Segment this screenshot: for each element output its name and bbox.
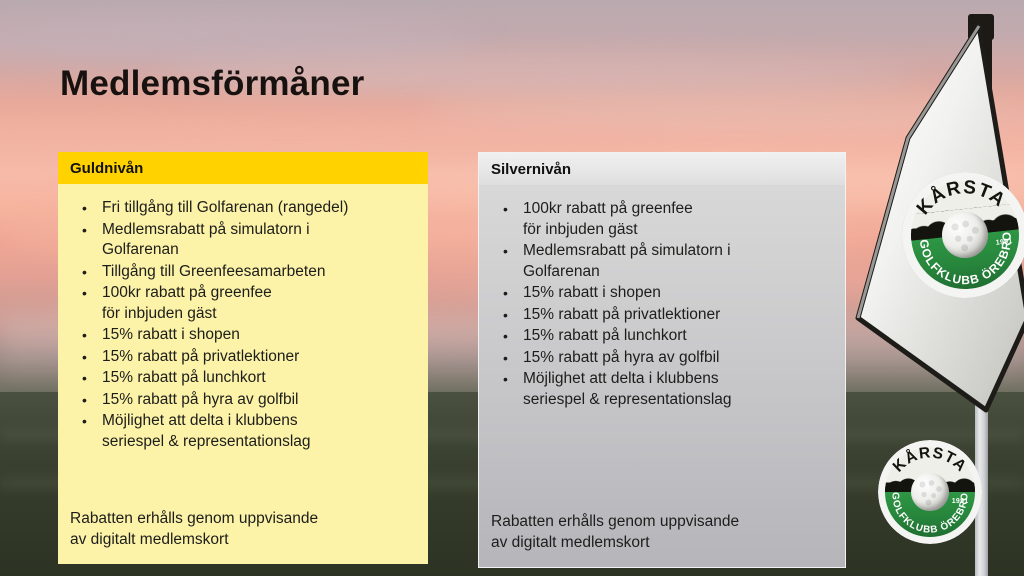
benefit-item: 100kr rabatt på greenfee för inbjuden gä… bbox=[80, 283, 416, 324]
club-badge-inner bbox=[885, 447, 974, 536]
benefit-item: 15% rabatt på lunchkort bbox=[501, 326, 833, 347]
benefit-item: 100kr rabatt på greenfee för inbjuden gä… bbox=[501, 199, 833, 240]
benefit-item: Fri tillgång till Golfarenan (rangedel) bbox=[80, 198, 416, 219]
club-badge: KÅRSTA GOLFKLUBB ÖREBRO 1991 bbox=[878, 440, 982, 544]
benefit-item: Möjlighet att delta i klubbens seriespel… bbox=[501, 369, 833, 410]
benefit-item: 15% rabatt på privatlektioner bbox=[80, 347, 416, 368]
page-title: Medlemsförmåner bbox=[60, 64, 364, 104]
panel-body-silvernivan: 100kr rabatt på greenfee för inbjuden gä… bbox=[479, 185, 845, 567]
benefit-item: 15% rabatt i shopen bbox=[501, 283, 833, 304]
benefit-item: Möjlighet att delta i klubbens seriespel… bbox=[80, 411, 416, 452]
benefit-item: 15% rabatt i shopen bbox=[80, 325, 416, 346]
benefit-item: 15% rabatt på hyra av golfbil bbox=[501, 348, 833, 369]
panel-footer-guldnivan: Rabatten erhålls genom uppvisande av dig… bbox=[70, 508, 318, 550]
golf-ball-icon bbox=[911, 473, 949, 511]
slide-canvas: Medlemsförmåner Guldnivån Fri tillgång t… bbox=[0, 0, 1024, 576]
benefit-list-guldnivan: Fri tillgång till Golfarenan (rangedel)M… bbox=[58, 184, 428, 452]
benefit-item: 15% rabatt på lunchkort bbox=[80, 368, 416, 389]
panel-silvernivan: Silvernivån 100kr rabatt på greenfee för… bbox=[478, 152, 846, 568]
club-logo-small: KÅRSTA GOLFKLUBB ÖREBRO 1991 bbox=[878, 440, 982, 544]
benefit-list-silvernivan: 100kr rabatt på greenfee för inbjuden gä… bbox=[479, 185, 845, 410]
club-badge-inner bbox=[905, 175, 1024, 294]
benefit-item: 15% rabatt på hyra av golfbil bbox=[80, 390, 416, 411]
founded-year: 1991 bbox=[952, 498, 969, 505]
benefit-item: Medlemsrabatt på simulatorn i Golfarenan bbox=[501, 241, 833, 282]
panel-body-guldnivan: Fri tillgång till Golfarenan (rangedel)M… bbox=[58, 184, 428, 564]
benefit-item: 15% rabatt på privatlektioner bbox=[501, 305, 833, 326]
panel-header-guldnivan: Guldnivån bbox=[58, 152, 428, 184]
benefit-item: Tillgång till Greenfeesamarbeten bbox=[80, 262, 416, 283]
benefit-item: Medlemsrabatt på simulatorn i Golfarenan bbox=[80, 220, 416, 261]
panel-footer-silvernivan: Rabatten erhålls genom uppvisande av dig… bbox=[491, 511, 739, 553]
panel-guldnivan: Guldnivån Fri tillgång till Golfarenan (… bbox=[58, 152, 428, 564]
panel-header-silvernivan: Silvernivån bbox=[479, 153, 845, 185]
